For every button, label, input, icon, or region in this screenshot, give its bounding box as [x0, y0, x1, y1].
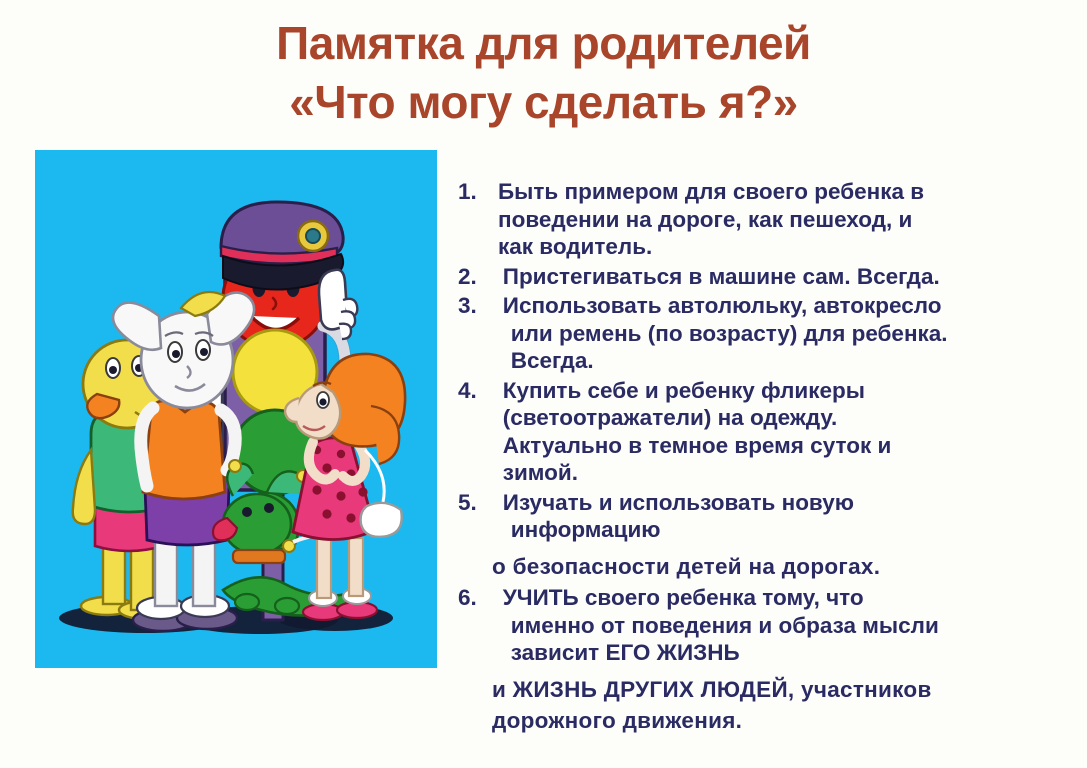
list-item-5-body: Изучать и использовать новую информацию: [503, 489, 1078, 544]
dog-paw-right: [275, 598, 299, 614]
list-item-3-body: Использовать автолюльку, автокресло или …: [503, 292, 1078, 375]
page-title: Памятка для родителей «Что могу сделать …: [0, 14, 1087, 132]
dog-collar: [233, 550, 285, 563]
title-line-1: Памятка для родителей: [0, 14, 1087, 73]
list-item-4-line-2: (светоотражатели) на одежду.: [503, 404, 1078, 432]
list-item-2-line-1: Пристегиваться в машине сам. Всегда.: [503, 263, 1078, 291]
standalone-line-other-people: и ЖИЗНЬ ДРУГИХ ЛЮДЕЙ, участников: [458, 676, 1078, 704]
list-item-1-line-2: поведении на дороге, как пешеход, и: [498, 206, 1078, 234]
list-item-4-line-3: Актуально в темное время суток и: [503, 432, 1078, 460]
girl-purse: [361, 503, 402, 537]
rabbit-leg-right: [193, 536, 215, 606]
list-item-3-line-1: Использовать автолюльку, автокресло: [503, 292, 1078, 320]
list-item-1-body: Быть примером для своего ребенка в повед…: [498, 178, 1078, 261]
dog-eye-right: [264, 503, 274, 513]
list-item-6-number: 6.: [458, 584, 477, 612]
girl-leg-left: [317, 538, 331, 598]
list-item-5-line-2: информацию: [503, 516, 1078, 544]
list-item-4: 4. Купить себе и ребенку фликеры (светоо…: [458, 377, 1078, 487]
list-item-1-number: 1.: [458, 178, 498, 206]
illustration-traffic-light-policeman: [35, 150, 437, 668]
list-item-4-line-1: Купить себе и ребенку фликеры: [503, 377, 1078, 405]
list-item-4-body: Купить себе и ребенку фликеры (светоотра…: [503, 377, 1078, 487]
list-item-6-body: УЧИТЬ своего ребенка тому, что именно от…: [503, 584, 1078, 667]
rabbit-leg-left: [155, 536, 177, 606]
list-item-4-number: 4.: [458, 377, 477, 405]
illustration-svg: [35, 150, 437, 668]
list-item-5: 5. Изучать и использовать новую информац…: [458, 489, 1078, 544]
list-item-6-line-1: УЧИТЬ своего ребенка тому, что: [503, 584, 1078, 612]
list-item-6: 6. УЧИТЬ своего ребенка тому, что именно…: [458, 584, 1078, 667]
list-item-3-number: 3.: [458, 292, 477, 320]
list-item-3-line-3: Всегда.: [503, 347, 1078, 375]
girl-leg-right: [349, 538, 363, 596]
police-cap-badge-center: [306, 229, 320, 243]
dog-paw-left: [235, 594, 259, 610]
list-item-2-number: 2.: [458, 263, 477, 291]
dog-hat-bell-left: [229, 460, 241, 472]
title-line-2: «Что могу сделать я?»: [0, 73, 1087, 132]
list-item-5-number: 5.: [458, 489, 477, 517]
list-item-6-line-2: именно от поведения и образа мысли: [503, 612, 1078, 640]
list-item-1-line-1: Быть примером для своего ребенка в: [498, 178, 1078, 206]
list-item-5-line-1: Изучать и использовать новую: [503, 489, 1078, 517]
list-item-4-line-4: зимой.: [503, 459, 1078, 487]
list-item-3: 3. Использовать автолюльку, автокресло и…: [458, 292, 1078, 375]
list-item-1-line-3: как водитель.: [498, 233, 1078, 261]
list-item-2: 2. Пристегиваться в машине сам. Всегда.: [458, 263, 1078, 291]
recommendations-list: 1. Быть примером для своего ребенка в по…: [458, 178, 1078, 739]
list-item-6-line-3: зависит ЕГО ЖИЗНЬ: [503, 639, 1078, 667]
list-item-3-line-2: или ремень (по возрасту) для ребенка.: [503, 320, 1078, 348]
list-item-2-body: Пристегиваться в машине сам. Всегда.: [503, 263, 1078, 291]
rabbit-tank-top: [143, 401, 225, 499]
dog-eye-left: [242, 507, 252, 517]
standalone-line-safety: о безопасности детей на дорогах.: [458, 553, 1078, 581]
poster-root: Памятка для родителей «Что могу сделать …: [0, 0, 1087, 768]
standalone-line-traffic: дорожного движения.: [458, 707, 1078, 735]
list-item-1: 1. Быть примером для своего ребенка в по…: [458, 178, 1078, 261]
